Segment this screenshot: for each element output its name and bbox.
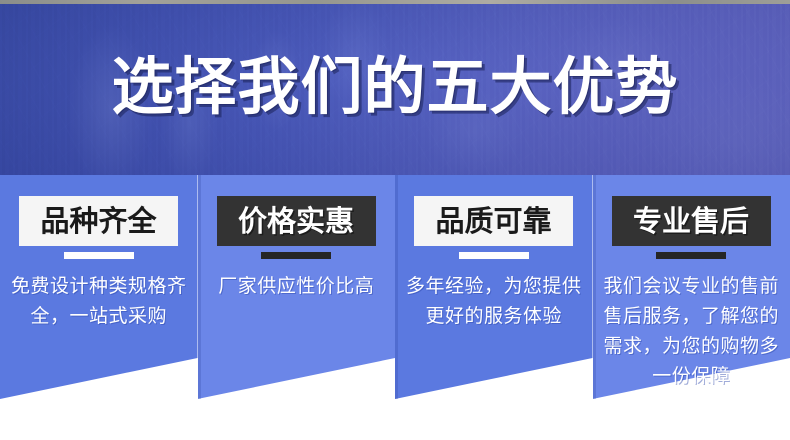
card-title-4: 专业售后 bbox=[633, 206, 749, 236]
card-title-box-2: 价格实惠 bbox=[217, 196, 376, 246]
page-title: 选择我们的五大优势 bbox=[0, 54, 790, 120]
card-title-box-1: 品种齐全 bbox=[19, 196, 178, 246]
card-body-1: 免费设计种类规格齐全，一站式采购 bbox=[8, 271, 190, 331]
card-title-box-3: 品质可靠 bbox=[414, 196, 573, 246]
advantage-card-3[interactable]: 品质可靠 多年经验，为您提供更好的服务体验 bbox=[395, 175, 593, 440]
card-title-2: 价格实惠 bbox=[238, 206, 354, 236]
advantage-card-2[interactable]: 价格实惠 厂家供应性价比高 bbox=[198, 175, 396, 440]
card-title-box-4: 专业售后 bbox=[612, 196, 771, 246]
card-divider-1 bbox=[64, 252, 134, 259]
card-divider-3 bbox=[459, 252, 529, 259]
card-divider-4 bbox=[656, 252, 726, 259]
hero-section: 选择我们的五大优势 bbox=[0, 0, 790, 175]
promo-banner: 选择我们的五大优势 品种齐全 免费设计种类规格齐全，一站式采购 价格实惠 bbox=[0, 0, 790, 440]
advantage-card-1[interactable]: 品种齐全 免费设计种类规格齐全，一站式采购 bbox=[0, 175, 198, 440]
card-title-3: 品质可靠 bbox=[435, 206, 551, 236]
card-title-1: 品种齐全 bbox=[40, 206, 156, 236]
top-edge-strip bbox=[0, 0, 790, 4]
card-body-2: 厂家供应性价比高 bbox=[206, 271, 388, 301]
card-body-3: 多年经验，为您提供更好的服务体验 bbox=[403, 271, 585, 331]
card-divider-2 bbox=[261, 252, 331, 259]
advantage-card-row: 品种齐全 免费设计种类规格齐全，一站式采购 价格实惠 厂家供应性价比高 bbox=[0, 175, 790, 440]
advantage-card-4[interactable]: 专业售后 我们会议专业的售前售后服务，了解您的需求，为您的购物多一份保障 bbox=[593, 175, 790, 440]
card-body-4: 我们会议专业的售前售后服务，了解您的需求，为您的购物多一份保障 bbox=[601, 271, 783, 391]
